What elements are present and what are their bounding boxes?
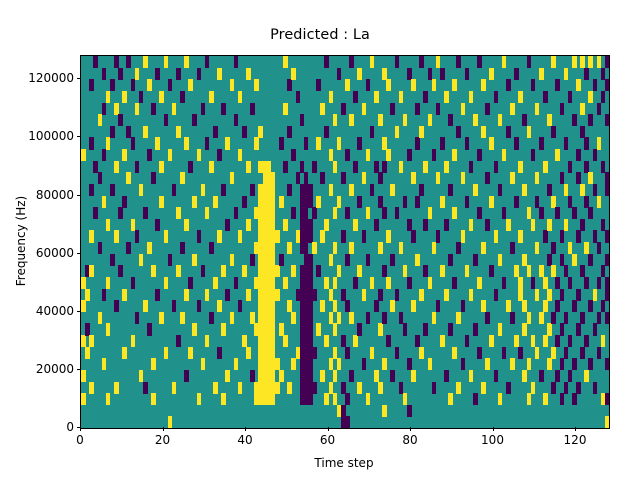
heatmap-cell (461, 300, 466, 312)
heatmap-cell (535, 242, 540, 254)
heatmap-cell (481, 126, 486, 138)
heatmap-cell (201, 265, 206, 277)
heatmap-cell (197, 149, 202, 161)
heatmap-cell (485, 219, 490, 231)
heatmap-cell (605, 312, 610, 324)
heatmap-cell (593, 289, 598, 301)
heatmap-cell (102, 68, 107, 80)
heatmap-cell (172, 300, 177, 312)
heatmap-cell (436, 300, 441, 312)
heatmap-cell (448, 184, 453, 196)
heatmap-cell (329, 358, 334, 370)
heatmap-cell (287, 79, 292, 91)
heatmap-cell (489, 265, 494, 277)
heatmap-cell (316, 79, 321, 91)
heatmap-cell (428, 277, 433, 289)
heatmap-cell (345, 393, 350, 405)
heatmap-cell (238, 149, 243, 161)
heatmap-cell (283, 277, 288, 289)
heatmap-cell (489, 137, 494, 149)
heatmap-cell (539, 68, 544, 80)
heatmap-cell (135, 103, 140, 115)
heatmap-cell (271, 393, 276, 405)
heatmap-cell (102, 289, 107, 301)
heatmap-cell (366, 312, 371, 324)
heatmap-cell (172, 382, 177, 394)
heatmap-cell (432, 312, 437, 324)
heatmap-cell (102, 358, 107, 370)
heatmap-cell (291, 68, 296, 80)
heatmap-cell (448, 393, 453, 405)
heatmap-cell (469, 370, 474, 382)
heatmap-cell (184, 370, 189, 382)
heatmap-cell (366, 149, 371, 161)
heatmap-cell (399, 382, 404, 394)
heatmap-cell (407, 358, 412, 370)
heatmap-cell (543, 91, 548, 103)
heatmap-cell (547, 184, 552, 196)
heatmap-cell (238, 230, 243, 242)
heatmap-cell (374, 219, 379, 231)
heatmap-cell (271, 242, 276, 254)
heatmap-cell (345, 207, 350, 219)
heatmap-cell (522, 254, 527, 266)
heatmap-cell (320, 370, 325, 382)
heatmap-cell (147, 149, 152, 161)
heatmap-cell (283, 103, 288, 115)
heatmap-cell (572, 300, 577, 312)
heatmap-cell (593, 230, 598, 242)
heatmap-cell (378, 382, 383, 394)
heatmap-cell (143, 300, 148, 312)
heatmap-cell (477, 56, 482, 68)
heatmap-cell (267, 161, 272, 173)
heatmap-cell (527, 358, 532, 370)
heatmap-cell (469, 91, 474, 103)
heatmap-cell (588, 300, 593, 312)
heatmap-cell (510, 242, 515, 254)
heatmap-cell (271, 172, 276, 184)
heatmap-cell (271, 196, 276, 208)
heatmap-cell (411, 370, 416, 382)
heatmap-cell (151, 265, 156, 277)
heatmap-cell (465, 335, 470, 347)
heatmap-cell (370, 277, 375, 289)
heatmap-cell (555, 370, 560, 382)
heatmap-cell (271, 335, 276, 347)
heatmap-cell (597, 277, 602, 289)
heatmap-cell (423, 161, 428, 173)
heatmap-cell (308, 230, 313, 242)
heatmap-cell (395, 207, 400, 219)
heatmap-cell (576, 149, 581, 161)
heatmap-cell (230, 312, 235, 324)
heatmap-cell (440, 335, 445, 347)
heatmap-cell (246, 347, 251, 359)
heatmap-cell (415, 254, 420, 266)
heatmap-cell (584, 196, 589, 208)
heatmap-cell (159, 161, 164, 173)
heatmap-cell (395, 56, 400, 68)
heatmap-cell (390, 184, 395, 196)
heatmap-cell (564, 137, 569, 149)
heatmap-cell (527, 56, 532, 68)
heatmap-cell (498, 254, 503, 266)
heatmap-cell (308, 370, 313, 382)
heatmap-cell (572, 254, 577, 266)
heatmap-cell (304, 207, 309, 219)
heatmap-cell (118, 265, 123, 277)
heatmap-cell (366, 207, 371, 219)
heatmap-cell (555, 149, 560, 161)
heatmap-cell (250, 312, 255, 324)
heatmap-cell (535, 289, 540, 301)
heatmap-cell (155, 289, 160, 301)
heatmap-cell (291, 265, 296, 277)
heatmap-cell (568, 242, 573, 254)
heatmap-cell (588, 56, 593, 68)
heatmap-cell (555, 300, 560, 312)
heatmap-cell (465, 137, 470, 149)
heatmap-cell (126, 56, 131, 68)
heatmap-cell (415, 335, 420, 347)
heatmap-cell (217, 300, 222, 312)
heatmap-cell (502, 56, 507, 68)
heatmap-cell (436, 56, 441, 68)
heatmap-cell (382, 68, 387, 80)
heatmap-cell (333, 370, 338, 382)
heatmap-cell (498, 323, 503, 335)
heatmap-cell (593, 149, 598, 161)
heatmap-cell (349, 114, 354, 126)
heatmap-cell (114, 103, 119, 115)
heatmap-cell (362, 103, 367, 115)
heatmap-cell (147, 323, 152, 335)
heatmap-cell (234, 56, 239, 68)
heatmap-cell (539, 265, 544, 277)
heatmap-cell (312, 242, 317, 254)
heatmap-cell (308, 277, 313, 289)
heatmap-cell (304, 242, 309, 254)
heatmap-cell (287, 184, 292, 196)
heatmap-cell (308, 300, 313, 312)
heatmap-cell (461, 103, 466, 115)
heatmap-cell (440, 196, 445, 208)
heatmap-cell (465, 196, 470, 208)
heatmap-cell (106, 277, 111, 289)
heatmap-cell (378, 323, 383, 335)
heatmap-cell (366, 254, 371, 266)
heatmap-cell (514, 137, 519, 149)
heatmap-cell (506, 79, 511, 91)
heatmap-cell (283, 219, 288, 231)
heatmap-cell (593, 184, 598, 196)
heatmap-cell (304, 172, 309, 184)
heatmap-cell (85, 289, 90, 301)
heatmap-cell (192, 323, 197, 335)
heatmap-cell (572, 358, 577, 370)
heatmap-cell (89, 79, 94, 91)
heatmap-cell (89, 382, 94, 394)
heatmap-cell (531, 149, 536, 161)
heatmap-cell (89, 184, 94, 196)
heatmap-cell (329, 149, 334, 161)
heatmap-cell (605, 56, 610, 68)
heatmap-cell (584, 161, 589, 173)
heatmap-cell (147, 79, 152, 91)
heatmap-cell (452, 207, 457, 219)
heatmap-cell (502, 207, 507, 219)
heatmap-cell (283, 56, 288, 68)
heatmap-cell (395, 289, 400, 301)
heatmap-cell (432, 242, 437, 254)
heatmap-cell (374, 91, 379, 103)
heatmap-cell (403, 114, 408, 126)
heatmap-cell (357, 265, 362, 277)
heatmap-cell (452, 79, 457, 91)
heatmap-cells (81, 56, 609, 428)
heatmap-cell (254, 79, 259, 91)
heatmap-cell (535, 347, 540, 359)
heatmap-cell (205, 335, 210, 347)
heatmap-cell (345, 416, 350, 428)
heatmap-cell (456, 242, 461, 254)
heatmap-cell (584, 68, 589, 80)
heatmap-cell (345, 79, 350, 91)
heatmap-cell (469, 289, 474, 301)
heatmap-cell (551, 382, 556, 394)
heatmap-cell (522, 370, 527, 382)
heatmap-cell (419, 184, 424, 196)
heatmap-cell (485, 312, 490, 324)
heatmap-cell (382, 265, 387, 277)
heatmap-cell (250, 370, 255, 382)
heatmap-cell (296, 172, 301, 184)
heatmap-cell (122, 289, 127, 301)
heatmap-cell (601, 265, 606, 277)
heatmap-cell (543, 161, 548, 173)
heatmap-cell (601, 161, 606, 173)
heatmap-cell (172, 184, 177, 196)
heatmap-cell (568, 91, 573, 103)
heatmap-cell (423, 265, 428, 277)
heatmap-cell (110, 254, 115, 266)
heatmap-cell (242, 335, 247, 347)
heatmap-cell (456, 382, 461, 394)
heatmap-cell (143, 126, 148, 138)
heatmap-cell (531, 335, 536, 347)
heatmap-cell (386, 79, 391, 91)
heatmap-cell (440, 68, 445, 80)
heatmap-cell (217, 347, 222, 359)
heatmap-cell (423, 323, 428, 335)
heatmap-cell (481, 242, 486, 254)
heatmap-cell (151, 358, 156, 370)
heatmap-cell (275, 230, 280, 242)
heatmap-cell (164, 56, 169, 68)
heatmap-cell (456, 312, 461, 324)
heatmap-cell (357, 323, 362, 335)
heatmap-cell (275, 382, 280, 394)
heatmap-cell (221, 103, 226, 115)
heatmap-cell (316, 196, 321, 208)
heatmap-cell (568, 370, 573, 382)
heatmap-cell (329, 254, 334, 266)
heatmap-cell (485, 172, 490, 184)
heatmap-cell (205, 137, 210, 149)
heatmap-cell (209, 242, 214, 254)
heatmap-cell (287, 382, 292, 394)
heatmap-cell (93, 207, 98, 219)
heatmap-cell (345, 300, 350, 312)
heatmap-cell (411, 230, 416, 242)
heatmap-cell (564, 184, 569, 196)
heatmap-cell (300, 114, 305, 126)
x-tick-label: 20 (133, 433, 193, 447)
heatmap-cell (551, 196, 556, 208)
heatmap-cell (452, 277, 457, 289)
heatmap-cell (432, 382, 437, 394)
heatmap-cell (593, 323, 598, 335)
heatmap-cell (576, 79, 581, 91)
heatmap-cell (291, 358, 296, 370)
heatmap-cell (324, 56, 329, 68)
heatmap-cell (605, 416, 610, 428)
heatmap-cell (139, 254, 144, 266)
heatmap-cell (312, 161, 317, 173)
heatmap-cell (98, 172, 103, 184)
heatmap-cell (357, 382, 362, 394)
heatmap-cell (279, 323, 284, 335)
heatmap-cell (477, 277, 482, 289)
heatmap-cell (543, 335, 548, 347)
heatmap-cell (527, 393, 532, 405)
heatmap-cell (597, 137, 602, 149)
heatmap-cell (126, 126, 131, 138)
heatmap-cell (135, 312, 140, 324)
heatmap-cell (341, 230, 346, 242)
heatmap-cell (213, 277, 218, 289)
heatmap-cell (605, 172, 610, 184)
heatmap-cell (593, 382, 598, 394)
heatmap-cell (543, 230, 548, 242)
heatmap-cell (341, 289, 346, 301)
heatmap-cell (461, 358, 466, 370)
heatmap-cell (324, 335, 329, 347)
heatmap-cell (580, 312, 585, 324)
heatmap-cell (539, 207, 544, 219)
heatmap-cell (522, 323, 527, 335)
heatmap-cell (580, 219, 585, 231)
heatmap-cell (366, 393, 371, 405)
heatmap-cell (432, 79, 437, 91)
heatmap-cell (164, 114, 169, 126)
heatmap-cell (291, 149, 296, 161)
heatmap-cell (320, 300, 325, 312)
heatmap-cell (98, 114, 103, 126)
heatmap-cell (225, 137, 230, 149)
heatmap-cell (465, 265, 470, 277)
heatmap-cell (448, 323, 453, 335)
heatmap-cell (337, 265, 342, 277)
heatmap-cell (535, 196, 540, 208)
heatmap-cell (110, 126, 115, 138)
heatmap-cell (390, 254, 395, 266)
x-axis-label: Time step (80, 456, 608, 470)
heatmap-cell (201, 103, 206, 115)
heatmap-cell (568, 196, 573, 208)
heatmap-cell (547, 254, 552, 266)
heatmap-cell (230, 172, 235, 184)
heatmap-cell (419, 56, 424, 68)
heatmap-cell (564, 219, 569, 231)
heatmap-cell (477, 207, 482, 219)
heatmap-cell (535, 103, 540, 115)
heatmap-cell (320, 230, 325, 242)
heatmap-cell (205, 56, 210, 68)
heatmap-cell (337, 312, 342, 324)
heatmap-cell (419, 289, 424, 301)
heatmap-cell (333, 161, 338, 173)
heatmap-cell (320, 172, 325, 184)
heatmap-cell (588, 172, 593, 184)
heatmap-cell (329, 184, 334, 196)
heatmap-cell (291, 312, 296, 324)
heatmap-cell (374, 161, 379, 173)
heatmap-cell (131, 219, 136, 231)
heatmap-cell (456, 126, 461, 138)
heatmap-cell (469, 161, 474, 173)
heatmap-cell (131, 277, 136, 289)
x-tick-label: 120 (545, 433, 605, 447)
heatmap-cell (551, 56, 556, 68)
heatmap-cell (188, 277, 193, 289)
heatmap-cell (605, 114, 610, 126)
heatmap-cell (234, 114, 239, 126)
heatmap-cell (382, 137, 387, 149)
heatmap-cell (547, 114, 552, 126)
heatmap-cell (432, 149, 437, 161)
heatmap-cell (159, 312, 164, 324)
heatmap-cell (250, 184, 255, 196)
heatmap-cell (395, 347, 400, 359)
heatmap-cell (362, 358, 367, 370)
heatmap-cell (473, 393, 478, 405)
heatmap-cell (333, 393, 338, 405)
heatmap-cell (473, 323, 478, 335)
heatmap-cell (407, 68, 412, 80)
heatmap-cell (428, 358, 433, 370)
heatmap-cell (357, 196, 362, 208)
heatmap-cell (349, 242, 354, 254)
heatmap-cell (494, 161, 499, 173)
heatmap-cell (370, 184, 375, 196)
heatmap-cell (485, 103, 490, 115)
heatmap-cell (341, 405, 346, 417)
heatmap-cell (279, 196, 284, 208)
heatmap-cell (131, 79, 136, 91)
heatmap-cell (98, 312, 103, 324)
heatmap-cell (151, 172, 156, 184)
heatmap-cell (560, 289, 565, 301)
heatmap-cell (568, 161, 573, 173)
heatmap-cell (320, 103, 325, 115)
heatmap-cell (477, 149, 482, 161)
heatmap-cell (308, 335, 313, 347)
heatmap-cell (428, 68, 433, 80)
heatmap-cell (217, 230, 222, 242)
heatmap-cell (85, 323, 90, 335)
